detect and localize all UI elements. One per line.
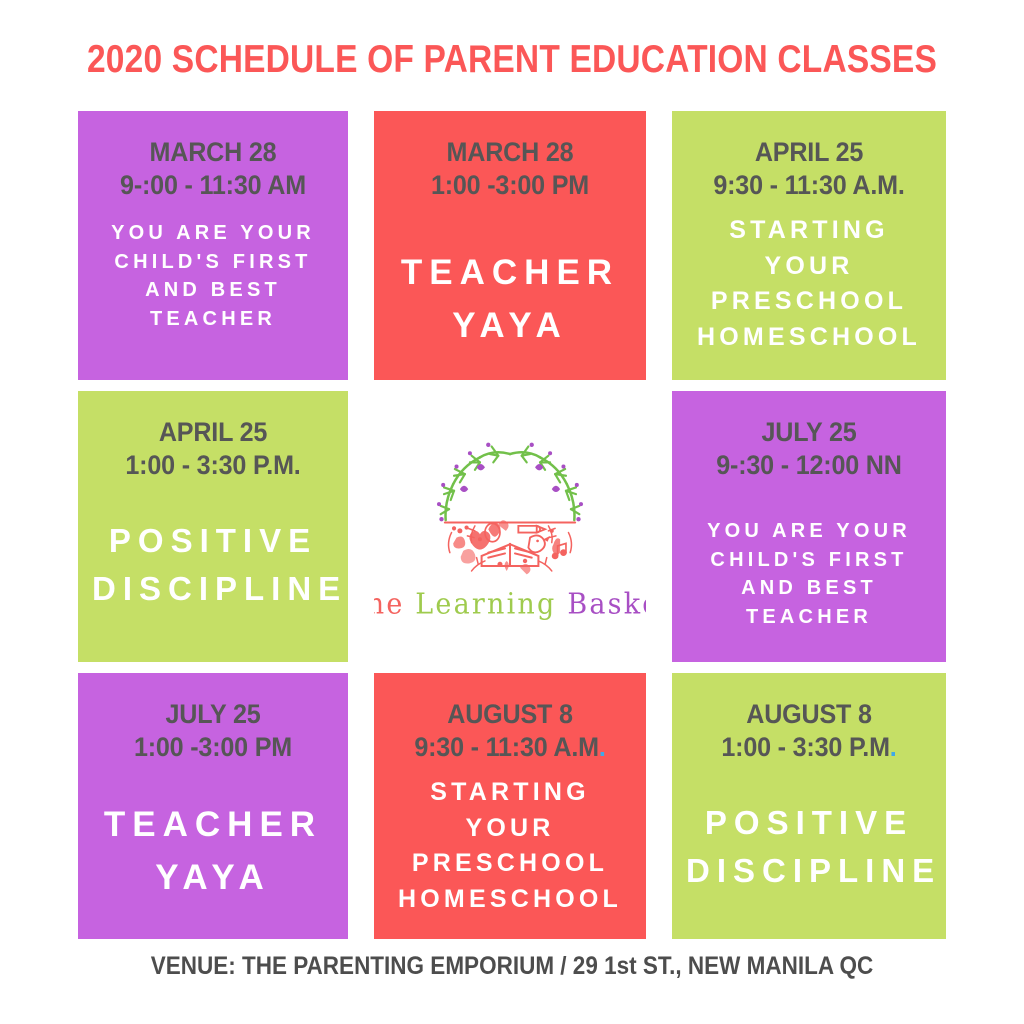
card-date: AUGUST 8: [689, 699, 929, 730]
card-date: MARCH 28: [95, 137, 331, 168]
card-time-text: 1:00 -3:00 PM: [431, 170, 589, 200]
logo-word-learning: Learning: [415, 588, 556, 621]
schedule-grid: MARCH 28 9-:00 - 11:30 AM YOU ARE YOUR C…: [78, 111, 946, 939]
card-date: AUGUST 8: [391, 699, 629, 730]
class-card-august-8-am[interactable]: AUGUST 8 9:30 - 11:30 A.M. STARTING YOUR…: [374, 673, 646, 939]
card-time: 9-:30 - 12:00 NN: [689, 448, 929, 483]
logo-wordmark: The Learning Basket: [374, 588, 646, 621]
card-date: APRIL 25: [689, 137, 929, 168]
card-time: 9-:00 - 11:30 AM: [95, 168, 331, 203]
card-time: 1:00 -3:00 PM: [391, 168, 629, 203]
card-topic: YOU ARE YOUR CHILD'S FIRST AND BEST TEAC…: [86, 219, 340, 333]
card-time-text: 1:00 - 3:30 P.M: [721, 732, 889, 762]
card-date: APRIL 25: [95, 417, 331, 448]
class-card-march-28-pm[interactable]: MARCH 28 1:00 -3:00 PM TEACHER YAYA: [374, 111, 646, 380]
card-topic: TEACHER YAYA: [382, 247, 638, 352]
wreath-basket-icon: [426, 439, 594, 581]
card-date: JULY 25: [95, 699, 331, 730]
page-title: 2020 SCHEDULE OF PARENT EDUCATION CLASSE…: [72, 38, 953, 82]
class-card-july-25-pm[interactable]: JULY 25 1:00 -3:00 PM TEACHER YAYA: [78, 673, 348, 939]
card-time-text: 9-:30 - 12:00 NN: [716, 450, 901, 480]
card-topic: POSITIVE DISCIPLINE: [680, 799, 938, 895]
class-card-april-25-pm[interactable]: APRIL 25 1:00 - 3:30 P.M. POSITIVE DISCI…: [78, 391, 348, 662]
card-time: 1:00 - 3:30 P.M.: [689, 730, 929, 765]
card-time-text: 9:30 - 11:30 A.M.: [713, 170, 904, 200]
card-time: 1:00 -3:00 PM: [95, 730, 331, 765]
card-time-text: 1:00 -3:00 PM: [134, 732, 292, 762]
card-topic: POSITIVE DISCIPLINE: [86, 517, 340, 613]
card-topic: YOU ARE YOUR CHILD'S FIRST AND BEST TEAC…: [680, 517, 938, 631]
card-time-suffix: .: [599, 732, 606, 762]
card-topic: STARTING YOUR PRESCHOOL HOMESCHOOL: [680, 213, 938, 355]
card-time: 1:00 - 3:30 P.M.: [95, 448, 331, 483]
card-time: 9:30 - 11:30 A.M.: [689, 168, 929, 203]
card-time-suffix: .: [890, 732, 897, 762]
card-time-text: 9-:00 - 11:30 AM: [120, 170, 306, 200]
poster: 2020 SCHEDULE OF PARENT EDUCATION CLASSE…: [0, 0, 1024, 1024]
logo-word-the: The: [374, 588, 405, 621]
class-card-july-25-am[interactable]: JULY 25 9-:30 - 12:00 NN YOU ARE YOUR CH…: [672, 391, 946, 662]
logo-word-basket: Basket: [567, 588, 646, 621]
card-topic: TEACHER YAYA: [86, 799, 340, 904]
card-time-text: 9:30 - 11:30 A.M: [414, 732, 599, 762]
class-card-august-8-pm[interactable]: AUGUST 8 1:00 - 3:30 P.M. POSITIVE DISCI…: [672, 673, 946, 939]
card-time-text: 1:00 - 3:30 P.M.: [125, 450, 300, 480]
card-date: JULY 25: [689, 417, 929, 448]
brand-logo: The Learning Basket: [374, 391, 646, 662]
venue-footer: VENUE: THE PARENTING EMPORIUM / 29 1st S…: [51, 952, 973, 981]
card-time: 9:30 - 11:30 A.M.: [391, 730, 629, 765]
card-topic: STARTING YOUR PRESCHOOL HOMESCHOOL: [382, 775, 638, 917]
class-card-march-28-am[interactable]: MARCH 28 9-:00 - 11:30 AM YOU ARE YOUR C…: [78, 111, 348, 380]
class-card-april-25-am[interactable]: APRIL 25 9:30 - 11:30 A.M. STARTING YOUR…: [672, 111, 946, 380]
card-date: MARCH 28: [391, 137, 629, 168]
logo-wrap: The Learning Basket: [374, 391, 646, 662]
